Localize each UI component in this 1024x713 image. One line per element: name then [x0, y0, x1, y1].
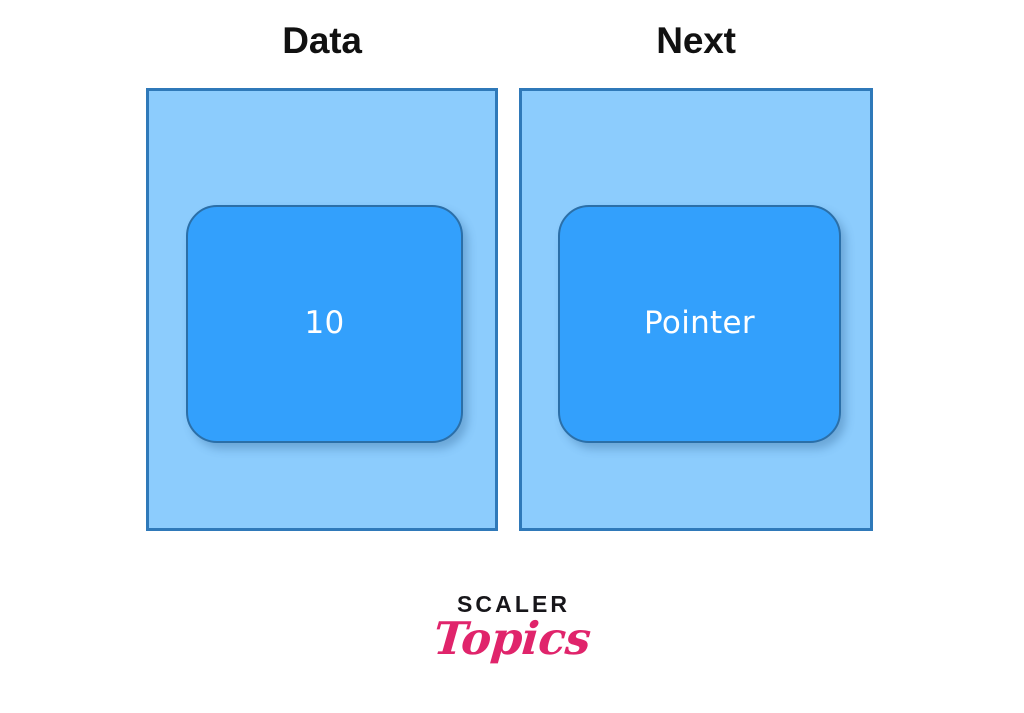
- scaler-topics-logo: SCALER Topics: [0, 592, 1024, 664]
- logo-script-topics: Topics: [0, 614, 1024, 664]
- node-value-box-next: Pointer: [558, 205, 841, 443]
- node-value-next: Pointer: [644, 308, 755, 339]
- node-value-box-data: 10: [186, 205, 463, 443]
- node-cell-data: 10: [146, 88, 498, 531]
- diagram-canvas: Data Next 10 Pointer SCALER Topics: [0, 0, 1024, 713]
- column-heading-data: Data: [146, 18, 498, 64]
- column-heading-next: Next: [519, 18, 873, 64]
- node-cell-next: Pointer: [519, 88, 873, 531]
- node-value-data: 10: [304, 308, 344, 339]
